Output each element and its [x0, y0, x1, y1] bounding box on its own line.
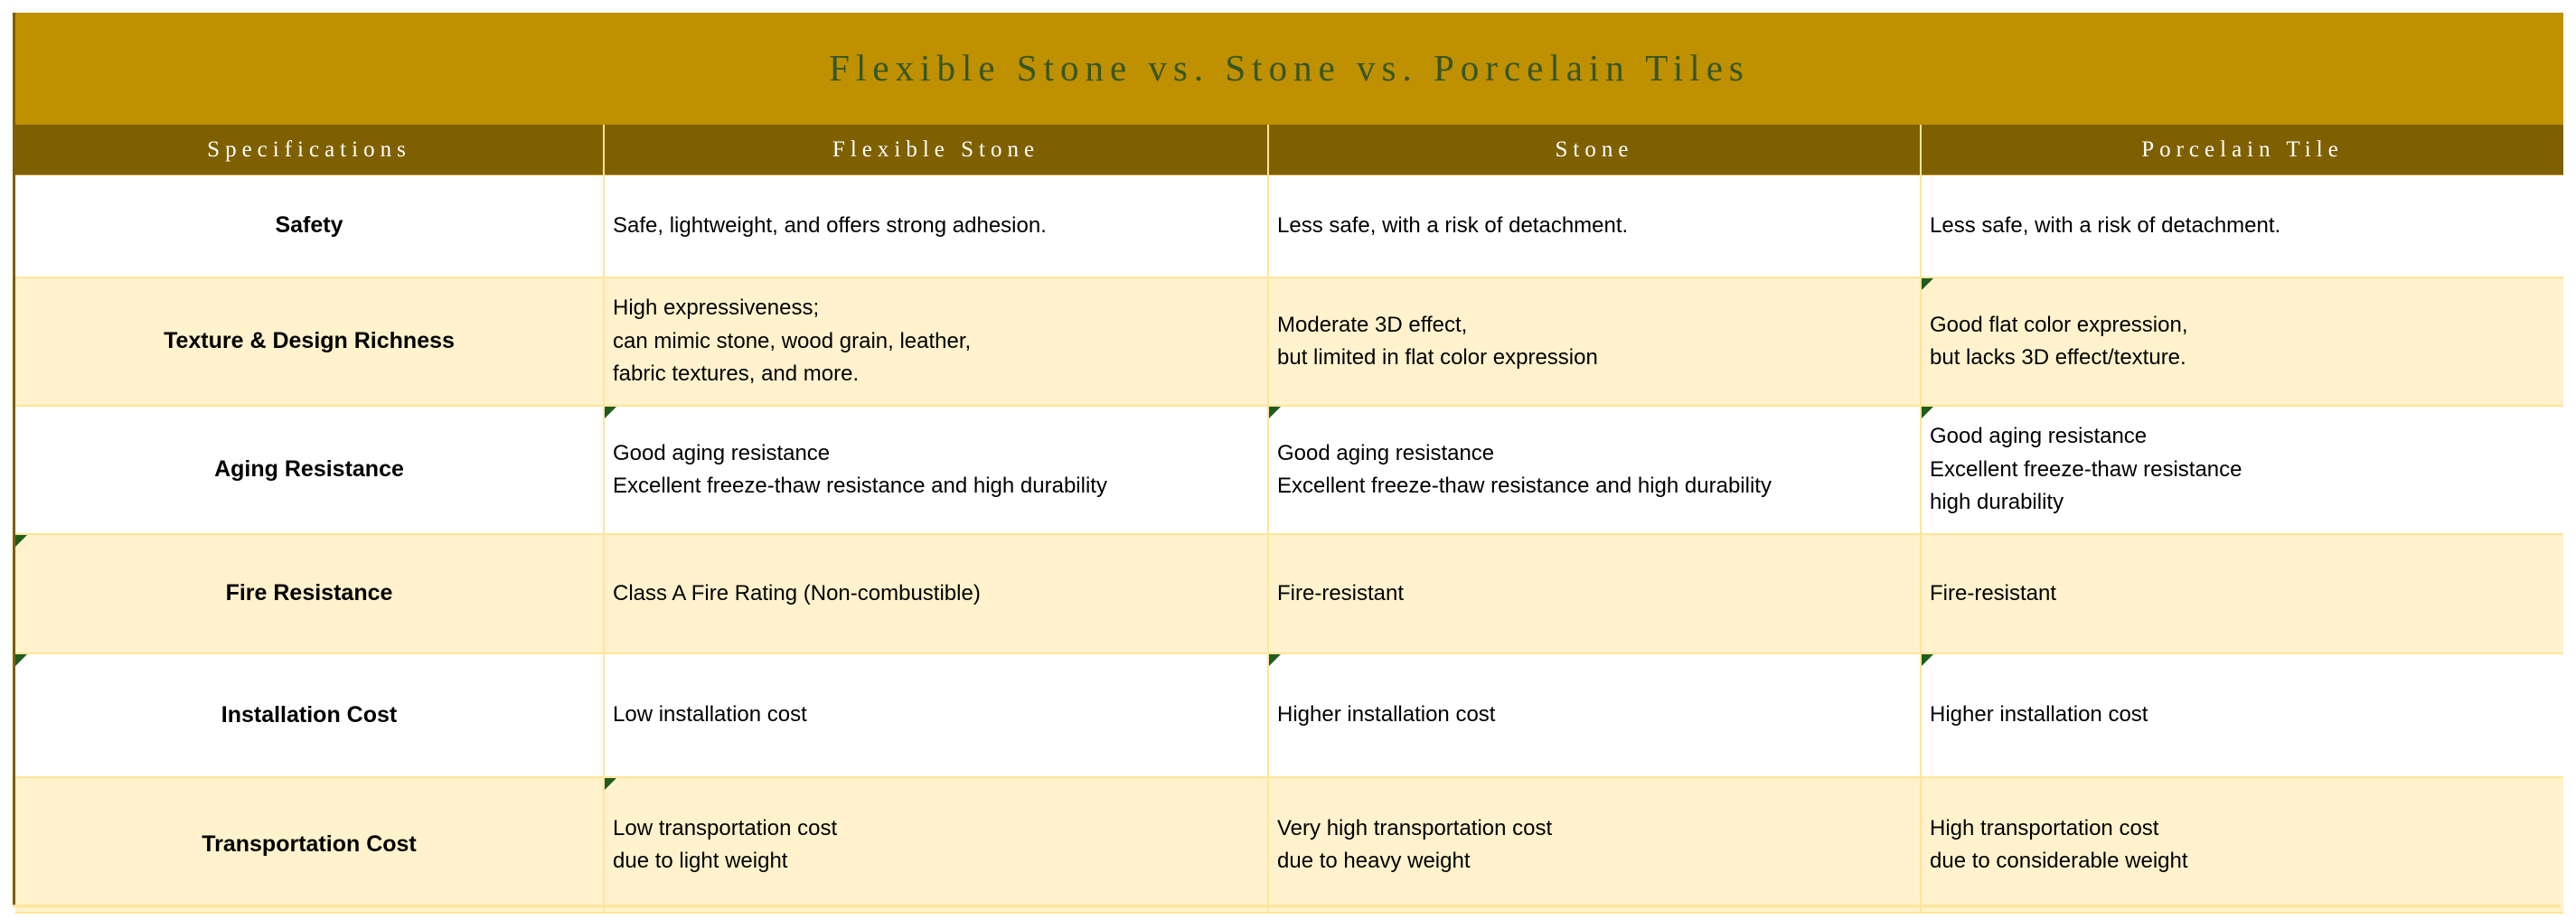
- column-header-specifications[interactable]: Specifications: [15, 125, 604, 175]
- row-label-cell[interactable]: Aging Resistance: [15, 406, 604, 534]
- comment-marker-icon: [1922, 654, 1933, 666]
- cell-value: Higher installation cost: [1922, 699, 2563, 731]
- column-header-label: Porcelain Tile: [1927, 137, 2558, 163]
- cell-porcelain-tile[interactable]: Good flat color expression, but lacks 3D…: [1921, 277, 2563, 406]
- spreadsheet-canvas: Flexible Stone vs. Stone vs. Porcelain T…: [0, 0, 2576, 920]
- cell-value: Less safe, with a risk of detachment.: [1922, 210, 2563, 242]
- column-header-label: Stone: [1274, 137, 1914, 163]
- cell-value: Class A Fire Rating (Non-combustible): [605, 577, 1267, 610]
- cell-value: High transportation cost due to consider…: [1922, 812, 2563, 878]
- comment-marker-icon: [15, 654, 27, 666]
- cell-flexible-stone[interactable]: Low installation cost: [604, 653, 1268, 777]
- column-header-porcelain-tile[interactable]: Porcelain Tile: [1921, 125, 2563, 175]
- row-label: Aging Resistance: [15, 455, 603, 483]
- cell-stone[interactable]: Less safe, with a risk of detachment.: [1268, 175, 1921, 278]
- comparison-table-container: Flexible Stone vs. Stone vs. Porcelain T…: [13, 13, 2563, 907]
- cell-porcelain-tile[interactable]: Higher installation cost: [1921, 653, 2563, 777]
- cell-porcelain-tile[interactable]: Good aging resistance Excellent freeze-t…: [1921, 406, 2563, 534]
- comment-marker-icon: [1922, 278, 1933, 290]
- column-header-flexible-stone[interactable]: Flexible Stone: [604, 125, 1268, 175]
- table-row: Texture & Design Richness High expressiv…: [15, 277, 2563, 406]
- cell-value: Good aging resistance Excellent freeze-t…: [1269, 437, 1920, 503]
- cell-porcelain-tile[interactable]: Less safe, with a risk of detachment.: [1921, 175, 2563, 278]
- cell-value: High expressiveness; can mimic stone, wo…: [605, 292, 1267, 390]
- column-header-label: Specifications: [21, 137, 597, 163]
- table-row: Fire Resistance Class A Fire Rating (Non…: [15, 534, 2563, 653]
- cell-stone[interactable]: Good aging resistance Excellent freeze-t…: [1268, 406, 1921, 534]
- cell-value: Good aging resistance Excellent freeze-t…: [1922, 420, 2563, 519]
- comment-marker-icon: [1922, 407, 1933, 418]
- cell-stone[interactable]: Moderate 3D effect, but limited in flat …: [1268, 277, 1921, 406]
- table-row: Installation Cost Low installation cost …: [15, 653, 2563, 777]
- row-label-cell[interactable]: Fire Resistance: [15, 534, 604, 653]
- row-label: Transportation Cost: [15, 831, 603, 859]
- table-row: Transportation Cost Low transportation c…: [15, 777, 2563, 913]
- title-row: Flexible Stone vs. Stone vs. Porcelain T…: [15, 13, 2563, 125]
- cell-stone[interactable]: Higher installation cost: [1268, 653, 1921, 777]
- page-title: Flexible Stone vs. Stone vs. Porcelain T…: [15, 48, 2563, 89]
- cell-value: Good flat color expression, but lacks 3D…: [1922, 309, 2563, 375]
- cell-flexible-stone[interactable]: Safe, lightweight, and offers strong adh…: [604, 175, 1268, 278]
- cell-flexible-stone[interactable]: Low transportation cost due to light wei…: [604, 777, 1268, 913]
- column-header-stone[interactable]: Stone: [1268, 125, 1921, 175]
- cell-flexible-stone[interactable]: Good aging resistance Excellent freeze-t…: [604, 406, 1268, 534]
- cell-value: Very high transportation cost due to hea…: [1269, 812, 1920, 878]
- column-header-label: Flexible Stone: [610, 137, 1262, 163]
- row-label: Safety: [15, 211, 603, 239]
- cell-flexible-stone[interactable]: High expressiveness; can mimic stone, wo…: [604, 277, 1268, 406]
- cell-value: Less safe, with a risk of detachment.: [1269, 210, 1920, 242]
- row-label-cell[interactable]: Installation Cost: [15, 653, 604, 777]
- cell-porcelain-tile[interactable]: High transportation cost due to consider…: [1921, 777, 2563, 913]
- table-row: Aging Resistance Good aging resistance E…: [15, 406, 2563, 534]
- table-row: Safety Safe, lightweight, and offers str…: [15, 175, 2563, 278]
- comparison-table: Flexible Stone vs. Stone vs. Porcelain T…: [15, 13, 2563, 914]
- table-bottom-rule: [13, 905, 2561, 907]
- cell-value: Low transportation cost due to light wei…: [605, 812, 1267, 878]
- cell-value: Fire-resistant: [1269, 577, 1920, 610]
- table-title-cell: Flexible Stone vs. Stone vs. Porcelain T…: [15, 13, 2563, 125]
- header-row: Specifications Flexible Stone Stone Porc…: [15, 125, 2563, 175]
- cell-value: Higher installation cost: [1269, 699, 1920, 731]
- cell-value: Moderate 3D effect, but limited in flat …: [1269, 309, 1920, 375]
- comment-marker-icon: [1269, 654, 1281, 666]
- row-label-cell[interactable]: Safety: [15, 175, 604, 278]
- cell-value: Fire-resistant: [1922, 577, 2563, 610]
- comment-marker-icon: [15, 535, 27, 547]
- row-label: Fire Resistance: [15, 579, 603, 607]
- row-label: Installation Cost: [15, 701, 603, 729]
- cell-stone[interactable]: Very high transportation cost due to hea…: [1268, 777, 1921, 913]
- row-label: Texture & Design Richness: [15, 327, 603, 355]
- cell-stone[interactable]: Fire-resistant: [1268, 534, 1921, 653]
- comment-marker-icon: [1269, 407, 1281, 418]
- cell-value: Low installation cost: [605, 699, 1267, 731]
- cell-flexible-stone[interactable]: Class A Fire Rating (Non-combustible): [604, 534, 1268, 653]
- cell-porcelain-tile[interactable]: Fire-resistant: [1921, 534, 2563, 653]
- cell-value: Safe, lightweight, and offers strong adh…: [605, 210, 1267, 242]
- comment-marker-icon: [605, 407, 616, 418]
- comment-marker-icon: [605, 778, 616, 790]
- row-label-cell[interactable]: Texture & Design Richness: [15, 277, 604, 406]
- row-label-cell[interactable]: Transportation Cost: [15, 777, 604, 913]
- cell-value: Good aging resistance Excellent freeze-t…: [605, 437, 1267, 503]
